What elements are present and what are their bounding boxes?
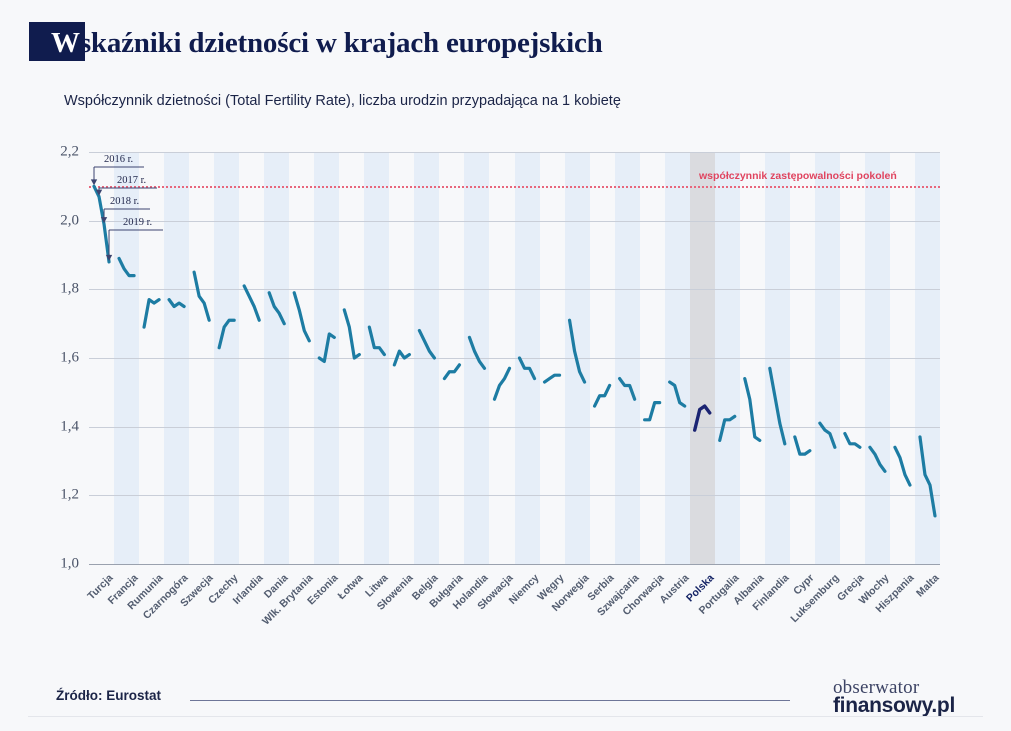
series-malta — [920, 437, 935, 516]
footer-divider — [28, 716, 983, 717]
series-irlandia — [244, 286, 259, 320]
series-dania — [269, 293, 284, 324]
series-w-gry — [545, 375, 560, 382]
page-title: Wskaźniki dzietności w krajach europejsk… — [29, 22, 603, 64]
y-tick-22: 2,2 — [60, 144, 79, 161]
y-tick-20: 2,0 — [60, 212, 79, 229]
source-divider — [190, 700, 790, 701]
annotation-2016: 2016 r. — [104, 154, 133, 165]
series-francja — [119, 258, 134, 275]
series-s-owacja — [494, 368, 509, 399]
series-czechy — [219, 320, 234, 347]
title-initial: W — [51, 27, 80, 59]
series--otwa — [344, 310, 359, 358]
series-grecja — [845, 434, 860, 448]
series-finlandia — [770, 368, 785, 444]
x-tick--otwa: Łotwa — [336, 572, 366, 602]
series-polska — [695, 406, 710, 430]
series-lines — [89, 152, 940, 564]
series-hiszpania — [895, 447, 910, 485]
y-tick-10: 1,0 — [60, 556, 79, 573]
series-wlk-brytania — [294, 293, 309, 341]
series-szwecja — [194, 272, 209, 320]
annotation-2019: 2019 r. — [123, 217, 152, 228]
source-note: Źródło: Eurostat — [56, 688, 161, 703]
series-niemcy — [520, 358, 535, 379]
y-tick-16: 1,6 — [60, 350, 79, 367]
logo-line-2: finansowy.pl — [833, 695, 955, 716]
y-tick-18: 1,8 — [60, 281, 79, 298]
series-holandia — [469, 337, 484, 368]
series-albania — [745, 379, 760, 441]
title-rest: skaźniki dzietności w krajach europejski… — [80, 27, 603, 59]
annotation-2017: 2017 r. — [117, 175, 146, 186]
infographic-page: Wskaźniki dzietności w krajach europejsk… — [0, 0, 1011, 731]
series-czarnog-ra — [169, 300, 184, 307]
series-belgia — [419, 331, 434, 358]
series-bu-garia — [444, 365, 459, 379]
y-tick-12: 1,2 — [60, 487, 79, 504]
series-rumunia — [144, 300, 159, 327]
series-w-ochy — [870, 447, 885, 471]
fertility-chart: 1,01,21,41,61,82,02,2 współczynnik zastę… — [0, 0, 1011, 731]
series-portugalia — [720, 416, 735, 440]
series-cypr — [795, 437, 810, 454]
series-turcja — [94, 186, 109, 262]
series-s-owenia — [394, 351, 409, 365]
series-chorwacja — [645, 403, 660, 420]
annotation-2018: 2018 r. — [110, 196, 139, 207]
logo: obserwator finansowy.pl — [833, 678, 955, 716]
y-tick-14: 1,4 — [60, 418, 79, 435]
series-luksemburg — [820, 423, 835, 447]
plot-area: 1,01,21,41,61,82,02,2 współczynnik zastę… — [89, 152, 940, 564]
series-austria — [670, 382, 685, 406]
series-norwegia — [570, 320, 585, 382]
title-text: Wskaźniki dzietności w krajach europejsk… — [51, 24, 603, 63]
x-tick-malta: Malta — [914, 572, 941, 599]
series-serbia — [595, 385, 610, 406]
gridline-1 — [89, 564, 940, 565]
series-litwa — [369, 327, 384, 354]
series-szwajcaria — [620, 379, 635, 400]
series-estonia — [319, 334, 334, 361]
